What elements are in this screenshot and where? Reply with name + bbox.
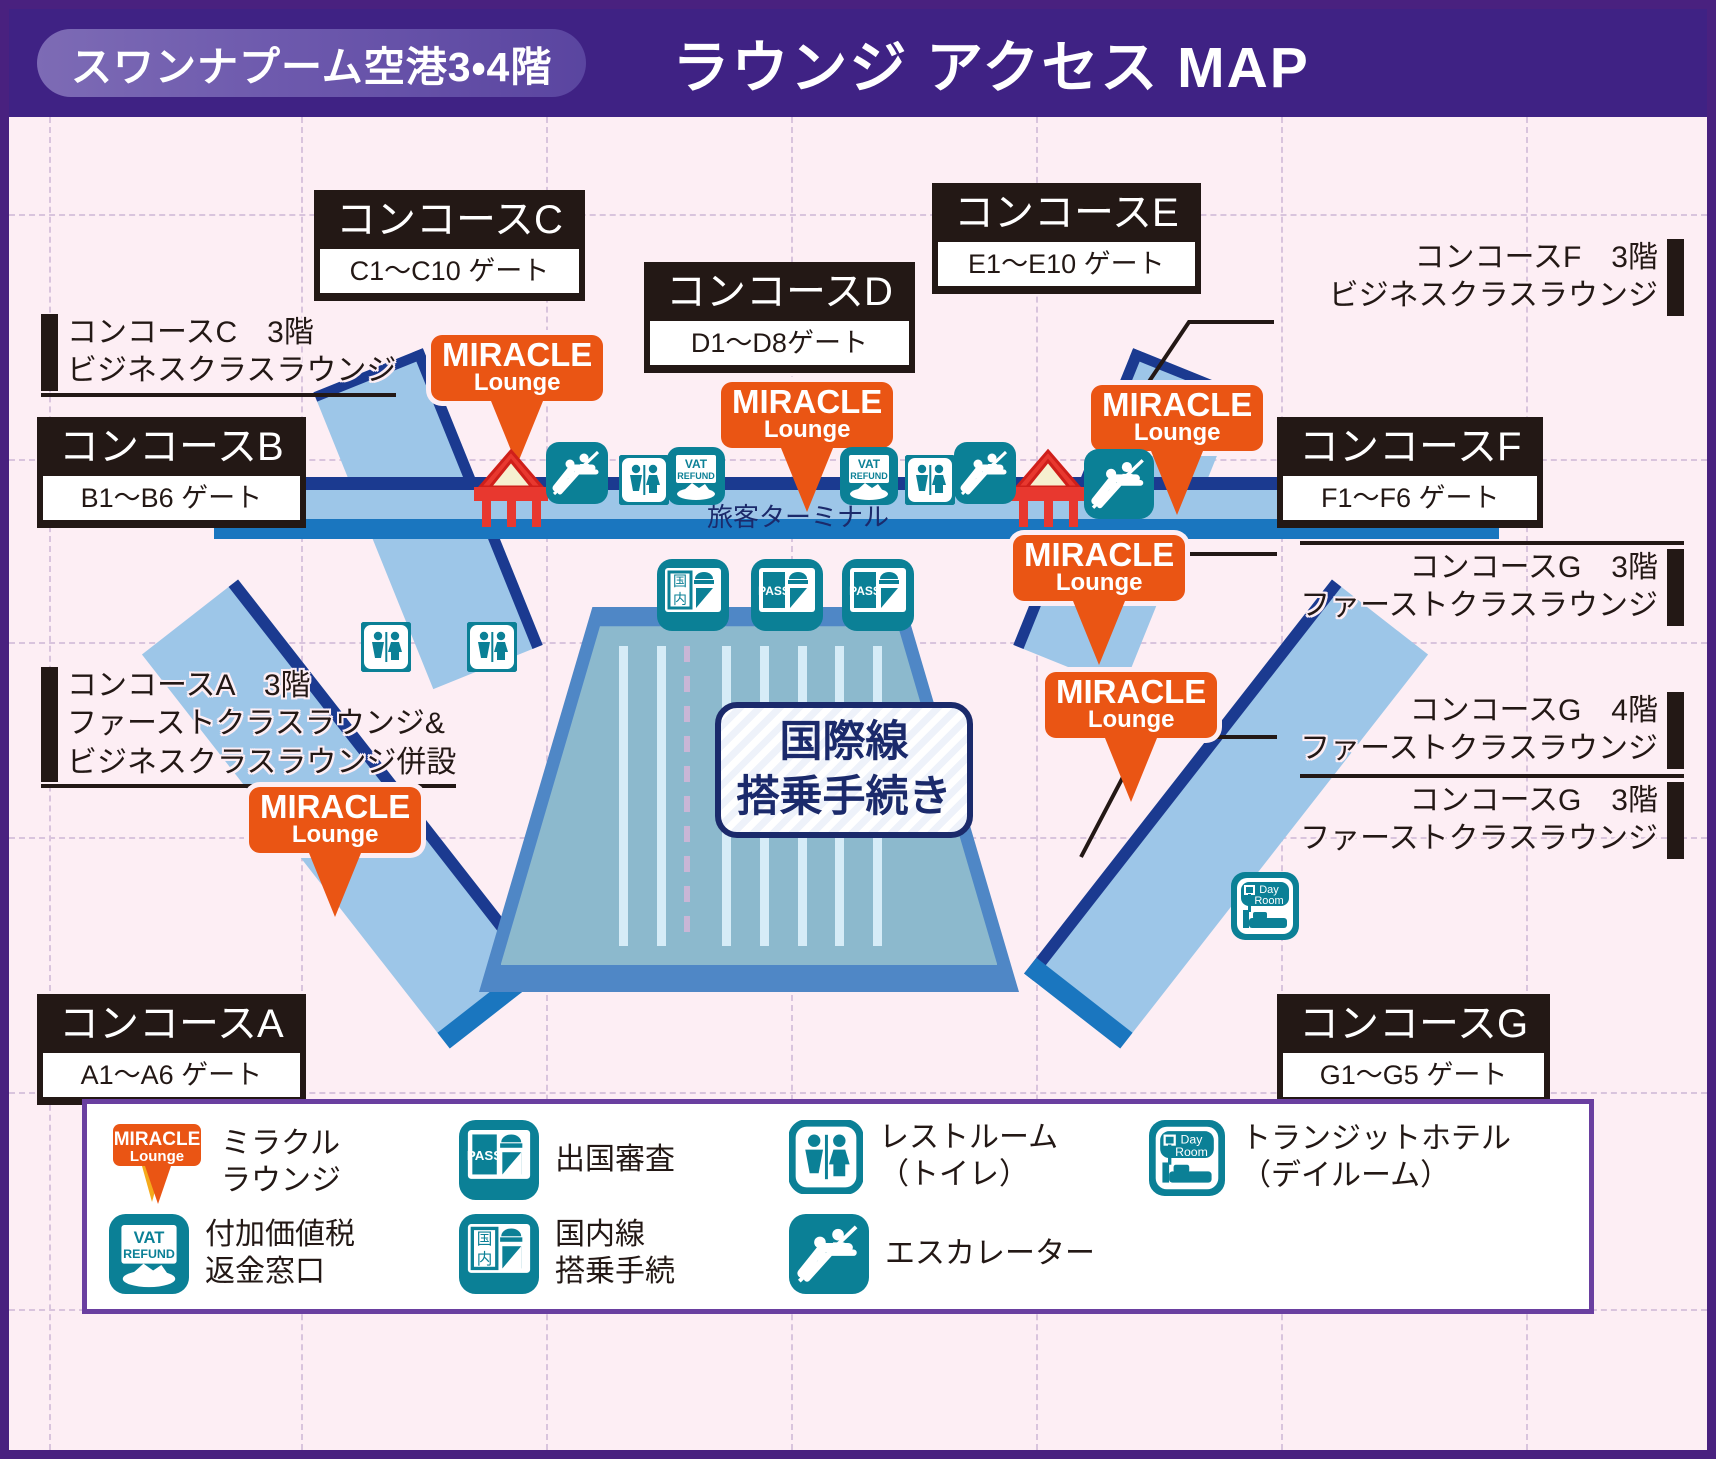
annotation-concourse-a-3f: コンコースA 3階 ファーストクラスラウンジ& ビジネスクラスラウンジ併設 bbox=[41, 667, 456, 782]
svg-text:VAT: VAT bbox=[134, 1228, 165, 1247]
legend-item-day-room: Day Room トランジットホテル（デイルーム） bbox=[1149, 1120, 1569, 1196]
plate-concourse-e-name: コンコースE bbox=[938, 189, 1195, 242]
svg-text:REFUND: REFUND bbox=[677, 471, 715, 481]
pass-control-icon-map-2: PASS bbox=[842, 559, 914, 631]
svg-text:REFUND: REFUND bbox=[850, 471, 888, 481]
annotation-concourse-f-3f-line-2: ビジネスクラスラウンジ bbox=[1329, 277, 1658, 315]
miracle-pin-concourse-g-lower[interactable]: MIRACLE Lounge bbox=[1045, 672, 1217, 738]
miracle-pin-subtitle: Lounge bbox=[1056, 708, 1206, 732]
domestic-checkin-icon-map: 国 内 bbox=[657, 559, 729, 631]
map-canvas: 国際線 搭乗手続き 旅客ターミナル コンコースC C1〜C10 ゲート コンコー… bbox=[9, 117, 1707, 1450]
legend-item-pass-control: PASS 出国審査 bbox=[459, 1120, 789, 1200]
plate-concourse-a-name: コンコースA bbox=[43, 1000, 300, 1053]
plate-concourse-b: コンコースB B1〜B6 ゲート bbox=[37, 417, 306, 528]
annotation-concourse-a-3f-line-1: コンコースA 3階 bbox=[67, 667, 456, 705]
annotation-concourse-g-3f-upper-line-1: コンコースG 3階 bbox=[1300, 549, 1658, 587]
svg-text:PASS: PASS bbox=[849, 584, 881, 598]
legend-item-miracle-lounge: MIRACLE Lounge ミラクルラウンジ bbox=[109, 1120, 459, 1206]
intl-line-2: 搭乗手続き bbox=[737, 770, 952, 825]
lounge-access-map-page: スワンナプーム空港3・4階 ラウンジ アクセス MAP bbox=[0, 0, 1716, 1459]
plate-concourse-c: コンコースC C1〜C10 ゲート bbox=[314, 190, 585, 301]
miracle-lounge-icon: MIRACLE Lounge bbox=[109, 1120, 205, 1206]
pass-control-icon: PASS bbox=[459, 1120, 539, 1200]
vat-refund-icon: VAT REFUND bbox=[109, 1214, 189, 1294]
annotation-concourse-f-3f: コンコースF 3階 ビジネスクラスラウンジ bbox=[1329, 239, 1684, 316]
intl-line-1: 国際線 bbox=[780, 715, 909, 770]
miracle-pin-concourse-d[interactable]: MIRACLE Lounge bbox=[721, 382, 893, 448]
day-room-icon-map: Day Room bbox=[1231, 872, 1299, 940]
annotation-concourse-a-3f-line-2: ファーストクラスラウンジ& bbox=[67, 705, 456, 743]
annotation-concourse-c-3f-line-2: ビジネスクラスラウンジ bbox=[67, 352, 396, 390]
plate-concourse-d: コンコースD D1〜D8ゲート bbox=[644, 262, 915, 373]
plate-concourse-g-name: コンコースG bbox=[1283, 1000, 1544, 1053]
miracle-pin-concourse-a[interactable]: MIRACLE Lounge bbox=[249, 787, 421, 853]
page-title: ラウンジ アクセス MAP bbox=[672, 22, 1310, 104]
legend-label-restroom: レストルーム（トイレ） bbox=[879, 1120, 1058, 1193]
escalator-icon bbox=[789, 1214, 869, 1294]
annotation-concourse-g-4f-line-2: ファーストクラスラウンジ bbox=[1300, 730, 1658, 768]
legend-item-restroom: レストルーム（トイレ） bbox=[789, 1120, 1149, 1194]
plate-concourse-e: コンコースE E1〜E10 ゲート bbox=[932, 183, 1201, 294]
annotation-concourse-g-3f-lower: コンコースG 3階 ファーストクラスラウンジ bbox=[1300, 782, 1684, 859]
plate-concourse-f-name: コンコースF bbox=[1283, 423, 1537, 476]
annotation-concourse-g-3f-upper: コンコースG 3階 ファーストクラスラウンジ bbox=[1300, 549, 1684, 626]
pass-control-icon-map-1: PASS bbox=[751, 559, 823, 631]
annotation-concourse-f-3f-line-1: コンコースF 3階 bbox=[1329, 239, 1658, 277]
miracle-pin-subtitle: Lounge bbox=[260, 823, 410, 847]
legend-item-domestic-checkin: 国 内 国内線搭乗手続 bbox=[459, 1214, 789, 1294]
svg-text:内: 内 bbox=[673, 592, 687, 608]
plate-concourse-a-gates: A1〜A6 ゲート bbox=[43, 1053, 300, 1098]
plate-concourse-f-gates: F1〜F6 ゲート bbox=[1283, 476, 1537, 521]
miracle-pin-subtitle: Lounge bbox=[1024, 571, 1174, 595]
svg-text:国: 国 bbox=[673, 574, 687, 590]
svg-text:Room: Room bbox=[1175, 1145, 1208, 1159]
annotation-concourse-c-3f-line-1: コンコースC 3階 bbox=[67, 314, 396, 352]
miracle-pin-title: MIRACLE bbox=[442, 338, 592, 372]
miracle-pin-title: MIRACLE bbox=[732, 385, 882, 419]
svg-text:VAT: VAT bbox=[685, 457, 708, 471]
legend-label-domestic-checkin: 国内線搭乗手続 bbox=[555, 1217, 675, 1290]
restroom-icon bbox=[789, 1120, 863, 1194]
svg-text:PASS: PASS bbox=[467, 1148, 502, 1163]
plate-concourse-f: コンコースF F1〜F6 ゲート bbox=[1277, 417, 1543, 528]
annotation-concourse-g-3f-lower-line-2: ファーストクラスラウンジ bbox=[1300, 820, 1658, 858]
plate-concourse-c-name: コンコースC bbox=[320, 196, 579, 249]
legend-label-pass-control: 出国審査 bbox=[555, 1142, 675, 1179]
page-header: スワンナプーム空港3・4階 ラウンジ アクセス MAP bbox=[9, 9, 1707, 117]
annotation-concourse-g-3f-upper-line-2: ファーストクラスラウンジ bbox=[1300, 587, 1658, 625]
miracle-pin-subtitle: Lounge bbox=[442, 371, 592, 395]
escalator-icon-1 bbox=[546, 442, 608, 504]
miracle-pin-concourse-c[interactable]: MIRACLE Lounge bbox=[431, 335, 603, 401]
svg-text:Room: Room bbox=[1254, 895, 1283, 907]
plate-concourse-a: コンコースA A1〜A6 ゲート bbox=[37, 994, 306, 1105]
miracle-pin-concourse-g-upper[interactable]: MIRACLE Lounge bbox=[1013, 535, 1185, 601]
plate-concourse-g-gates: G1〜G5 ゲート bbox=[1283, 1053, 1544, 1098]
legend-label-escalator: エスカレーター bbox=[885, 1236, 1095, 1273]
miracle-pin-concourse-f[interactable]: MIRACLE Lounge bbox=[1091, 385, 1263, 451]
airport-floor-badge: スワンナプーム空港3・4階 bbox=[37, 29, 586, 97]
svg-text:国: 国 bbox=[477, 1230, 493, 1248]
escalator-icon-2 bbox=[954, 442, 1016, 504]
vat-refund-icon-2: VAT REFUND bbox=[840, 447, 898, 505]
vat-refund-icon-1: VAT REFUND bbox=[667, 447, 725, 505]
miracle-pin-subtitle: Lounge bbox=[1102, 421, 1252, 445]
plate-concourse-c-gates: C1〜C10 ゲート bbox=[320, 249, 579, 294]
annotation-concourse-g-4f: コンコースG 4階 ファーストクラスラウンジ bbox=[1300, 692, 1684, 769]
legend-label-day-room: トランジットホテル（デイルーム） bbox=[1241, 1121, 1511, 1194]
legend-item-vat-refund: VAT REFUND 付加価値税返金窓口 bbox=[109, 1214, 459, 1294]
miracle-pin-title: MIRACLE bbox=[260, 790, 410, 824]
plate-concourse-e-gates: E1〜E10 ゲート bbox=[938, 242, 1195, 287]
plate-concourse-b-name: コンコースB bbox=[43, 423, 300, 476]
restroom-icon-4 bbox=[467, 622, 517, 672]
miracle-pin-subtitle: Lounge bbox=[732, 418, 882, 442]
miracle-pin-title: MIRACLE bbox=[1056, 675, 1206, 709]
annotation-concourse-g-3f-lower-line-1: コンコースG 3階 bbox=[1300, 782, 1658, 820]
miracle-pin-title: MIRACLE bbox=[1102, 388, 1252, 422]
svg-text:PASS: PASS bbox=[758, 584, 790, 598]
day-room-icon: Day Room bbox=[1149, 1120, 1225, 1196]
svg-text:内: 内 bbox=[477, 1250, 493, 1268]
svg-text:Lounge: Lounge bbox=[130, 1148, 184, 1165]
annotation-concourse-a-3f-line-3: ビジネスクラスラウンジ併設 bbox=[67, 744, 456, 782]
restroom-icon-2 bbox=[905, 455, 955, 505]
miracle-pin-title: MIRACLE bbox=[1024, 538, 1174, 572]
annotation-concourse-g-4f-line-1: コンコースG 4階 bbox=[1300, 692, 1658, 730]
plate-concourse-d-name: コンコースD bbox=[650, 268, 909, 321]
thai-temple-icon-left bbox=[464, 447, 559, 529]
legend-item-escalator: エスカレーター bbox=[789, 1214, 1189, 1294]
legend-label-vat-refund: 付加価値税返金窓口 bbox=[205, 1217, 355, 1290]
plate-concourse-d-gates: D1〜D8ゲート bbox=[650, 321, 909, 366]
plate-concourse-g: コンコースG G1〜G5 ゲート bbox=[1277, 994, 1550, 1105]
svg-text:VAT: VAT bbox=[858, 457, 881, 471]
svg-text:MIRACLE: MIRACLE bbox=[114, 1129, 201, 1150]
international-checkin-label: 国際線 搭乗手続き bbox=[715, 702, 973, 838]
escalator-icon-3 bbox=[1084, 449, 1154, 519]
svg-text:REFUND: REFUND bbox=[123, 1247, 175, 1261]
legend-label-miracle-lounge: ミラクルラウンジ bbox=[221, 1126, 341, 1199]
restroom-icon-3 bbox=[361, 622, 411, 672]
restroom-icon-1 bbox=[619, 455, 669, 505]
map-legend: MIRACLE Lounge ミラクルラウンジ PASS bbox=[82, 1099, 1594, 1314]
annotation-concourse-c-3f: コンコースC 3階 ビジネスクラスラウンジ bbox=[41, 314, 396, 391]
domestic-checkin-icon: 国 内 bbox=[459, 1214, 539, 1294]
plate-concourse-b-gates: B1〜B6 ゲート bbox=[43, 476, 300, 521]
